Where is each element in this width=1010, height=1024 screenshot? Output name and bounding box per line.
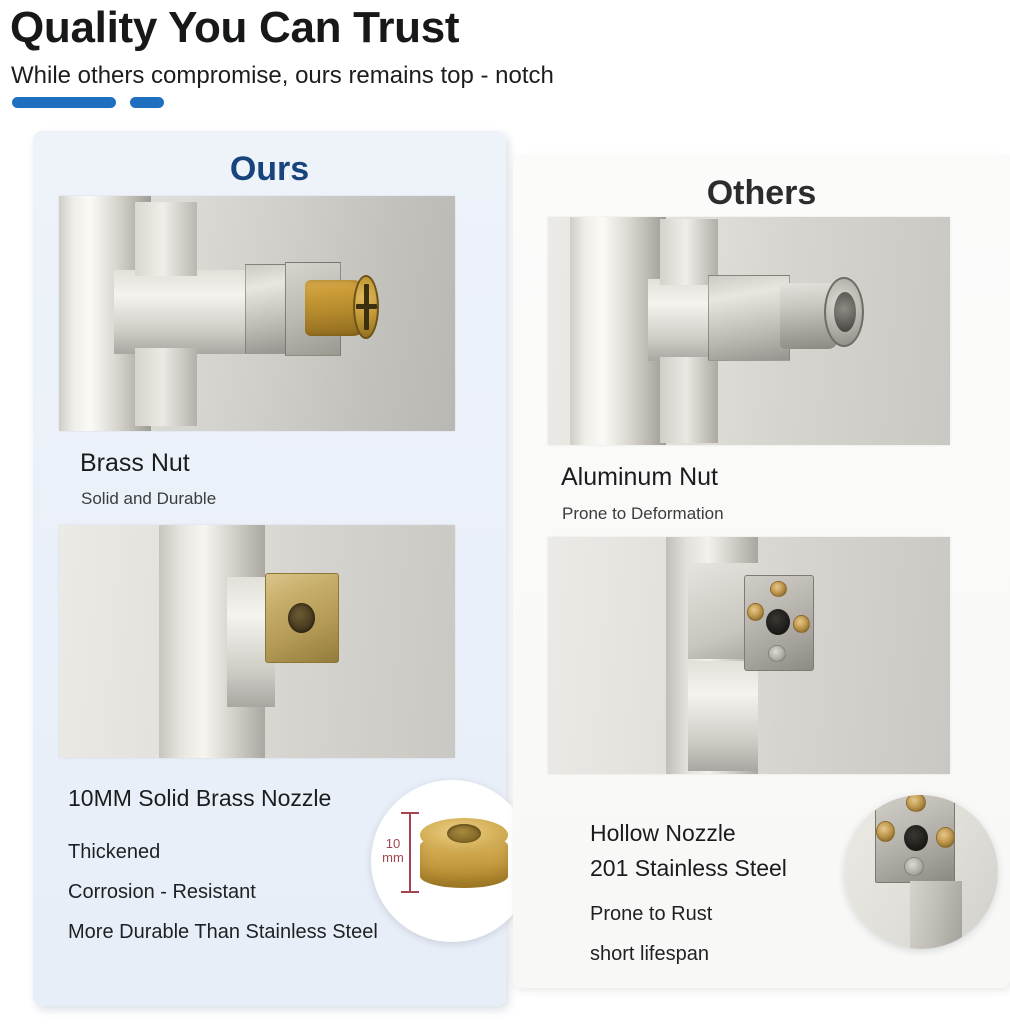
dimension-unit: mm — [379, 851, 407, 865]
photo-steel-hollow-nozzle — [548, 537, 950, 774]
accent-bars — [12, 97, 164, 108]
photo-brass-square-nozzle — [59, 525, 455, 758]
feature-line-others-2: short lifespan — [590, 941, 709, 967]
sublabel-aluminum-nut: Prone to Deformation — [562, 503, 724, 525]
page-subtitle: While others compromise, ours remains to… — [11, 61, 554, 91]
callout-hollow-nozzle — [844, 795, 998, 949]
accent-bar-long — [12, 97, 116, 108]
feature-line-ours-3: More Durable Than Stainless Steel — [68, 919, 378, 945]
photo-aluminum-nut — [548, 217, 950, 445]
feature-title-others-2: 201 Stainless Steel — [590, 853, 787, 883]
feature-title-others-1: Hollow Nozzle — [590, 818, 736, 848]
label-aluminum-nut: Aluminum Nut — [561, 462, 718, 492]
page-title: Quality You Can Trust — [10, 2, 459, 54]
callout-brass-nozzle: 10 mm — [371, 780, 533, 942]
feature-line-others-1: Prone to Rust — [590, 901, 712, 927]
sublabel-brass-nut: Solid and Durable — [81, 488, 216, 510]
accent-bar-short — [130, 97, 164, 108]
feature-line-ours-1: Thickened — [68, 839, 160, 865]
dimension-value: 10 — [379, 837, 407, 851]
label-brass-nut: Brass Nut — [80, 448, 190, 478]
panel-ours-heading: Ours — [33, 149, 506, 189]
panel-others-heading: Others — [513, 173, 1010, 213]
photo-brass-nut — [59, 196, 455, 431]
panel-others: Others Aluminum Nut Prone to Deformation — [513, 155, 1010, 988]
infographic-root: Quality You Can Trust While others compr… — [0, 0, 1010, 1024]
feature-title-ours: 10MM Solid Brass Nozzle — [68, 783, 331, 813]
panel-ours: Ours Brass Nut Solid and Durable — [33, 131, 506, 1006]
feature-line-ours-2: Corrosion - Resistant — [68, 879, 256, 905]
